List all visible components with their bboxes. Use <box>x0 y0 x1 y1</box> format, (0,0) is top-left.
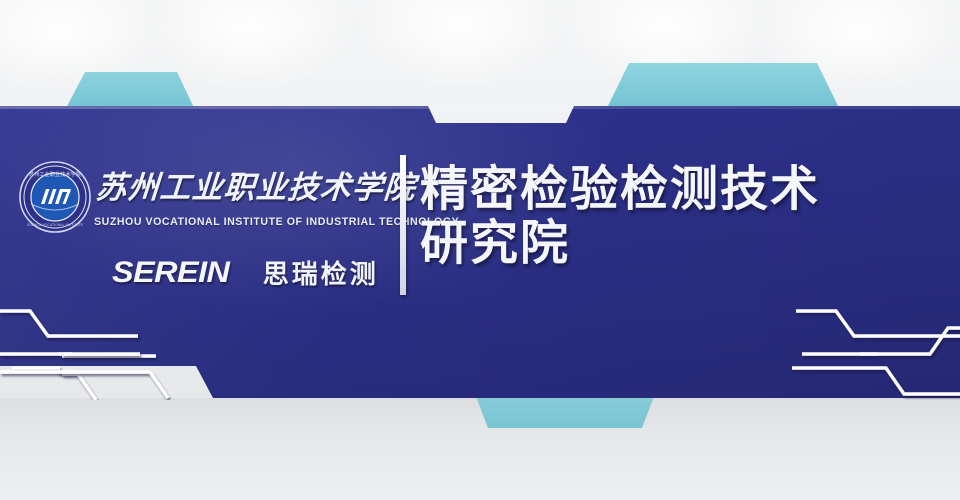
teal-trapezoid-right <box>600 63 844 110</box>
wall-floor <box>0 398 960 500</box>
serein-name-cn: 思瑞检测 <box>263 254 379 291</box>
institute-title-line2: 研究院 <box>420 216 950 270</box>
suzhou-vocational-institute-emblem: 苏州工业职业技术学院 SUZHOU VOCATIONAL INSTITUTE <box>18 160 92 234</box>
svg-text:SUZHOU VOCATIONAL INSTITUTE: SUZHOU VOCATIONAL INSTITUTE <box>27 223 83 227</box>
serein-wordmark: SEREIN <box>112 256 229 290</box>
institute-title-line1: 精密检验检测技术 <box>420 162 950 216</box>
university-name-en: SUZHOU VOCATIONAL INSTITUTE OF INDUSTRIA… <box>94 216 394 228</box>
vertical-divider-bar <box>400 155 406 295</box>
partner-brand-lockup: SEREIN 思瑞检测 <box>112 254 379 291</box>
signage-scene: 苏州工业职业技术学院 SUZHOU VOCATIONAL INSTITUTE 苏… <box>0 0 960 500</box>
institute-title: 精密检验检测技术 研究院 <box>420 162 950 270</box>
university-name-cn: 苏州工业职业技术学院 <box>94 162 397 207</box>
svg-text:苏州工业职业技术学院: 苏州工业职业技术学院 <box>29 170 82 178</box>
panel-top-highlight <box>0 106 960 109</box>
